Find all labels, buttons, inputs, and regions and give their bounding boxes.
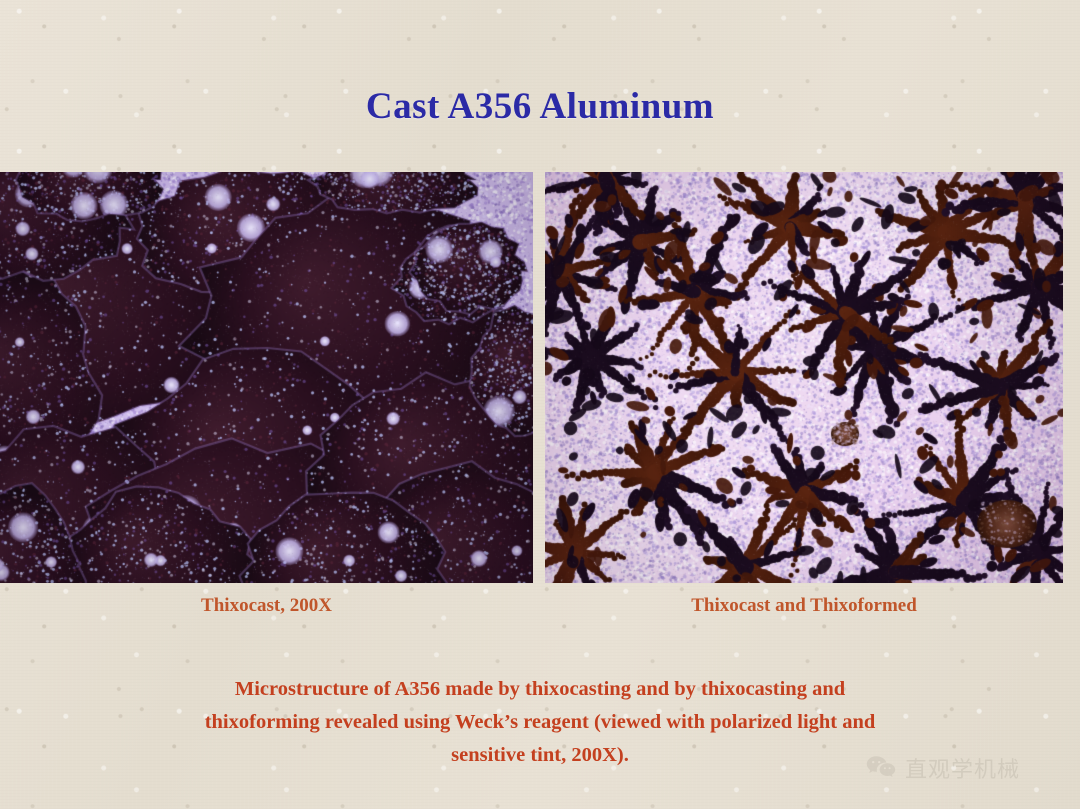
micrograph-thixocast xyxy=(0,172,533,583)
watermark-label: 直观学机械 xyxy=(905,752,1020,784)
caption-left: Thixocast, 200X xyxy=(0,595,533,617)
watermark: 直观学机械 xyxy=(866,752,1020,784)
description-line-2: thixoforming revealed using Weck’s reage… xyxy=(70,706,1010,739)
page-title: Cast A356 Aluminum xyxy=(0,85,1080,128)
micrograph-thixocast-thixoformed xyxy=(545,172,1063,583)
wechat-icon xyxy=(866,755,896,781)
caption-right: Thixocast and Thixoformed xyxy=(545,595,1063,617)
description-line-1: Microstructure of A356 made by thixocast… xyxy=(70,673,1010,706)
micrograph-dendritic-image xyxy=(545,172,1063,583)
micrograph-globular-image xyxy=(0,172,533,583)
